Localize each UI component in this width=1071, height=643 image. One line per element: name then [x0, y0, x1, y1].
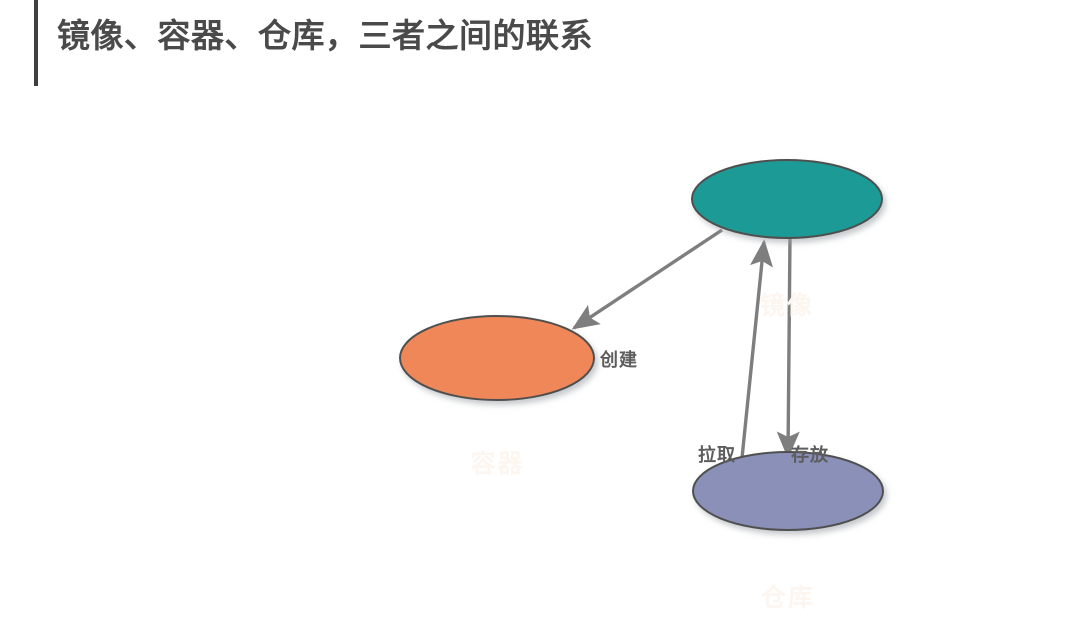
node-container[interactable] [400, 316, 594, 400]
title-accent-rule [34, 0, 38, 86]
node-image[interactable] [692, 160, 882, 238]
edge-push-line [788, 236, 790, 456]
slide-canvas: 镜像、容器、仓库，三者之间的联系 [0, 0, 1071, 643]
edge-label-pull: 拉取 [698, 441, 736, 467]
edge-pull-line [742, 242, 764, 458]
diagram-canvas [0, 100, 1071, 643]
edge-label-create: 创建 [600, 346, 638, 372]
edge-label-push: 存放 [791, 441, 829, 467]
page-title: 镜像、容器、仓库，三者之间的联系 [57, 16, 593, 56]
slide-header: 镜像、容器、仓库，三者之间的联系 [0, 0, 1071, 100]
edge-create-line [574, 230, 722, 328]
relationship-diagram: 镜像 容器 仓库 创建 拉取 存放 图1 容器，镜像，仓库关系图 [0, 100, 1071, 643]
